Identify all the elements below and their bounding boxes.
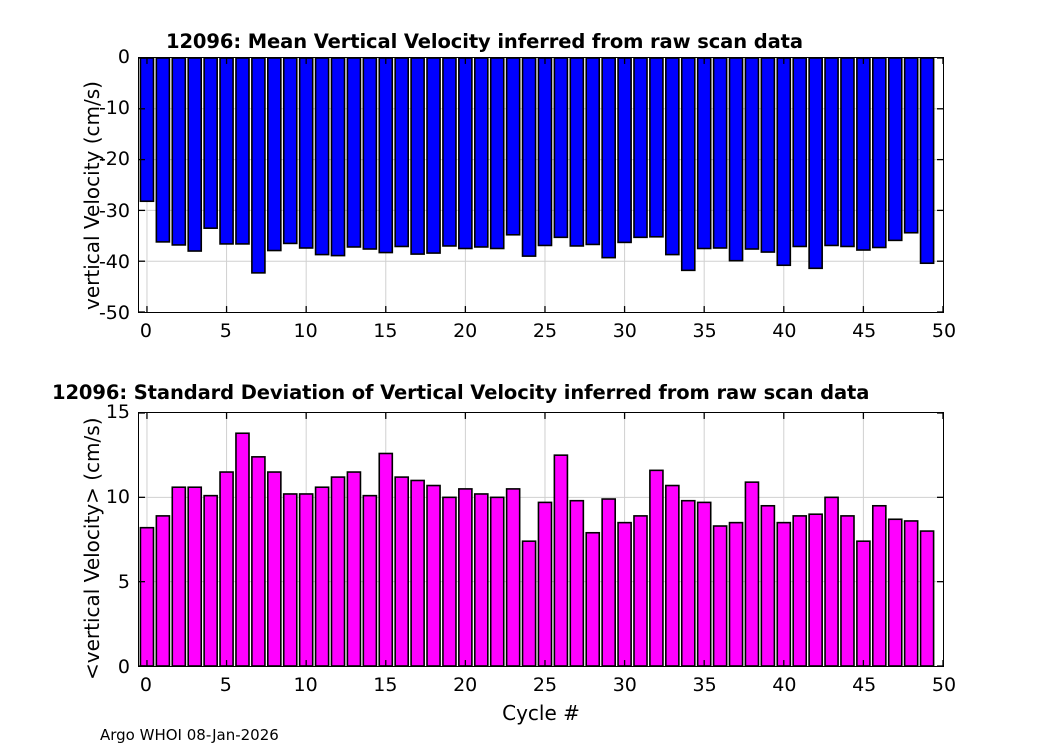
bar [140,58,153,201]
bar [172,487,185,666]
bar [841,58,854,246]
bar [873,506,886,666]
x-tick-label: 25 [533,320,557,342]
bar [825,497,838,666]
bar [379,453,392,666]
y-tick-label: 0 [66,656,130,678]
bar [284,58,297,243]
bar [745,58,758,249]
x-tick-label: 35 [693,320,717,342]
y-tick-label: 15 [66,401,130,423]
bar [411,480,424,666]
bar [586,533,599,666]
bar [554,455,567,666]
bar [236,58,249,244]
bar [730,58,743,261]
x-tick-label: 20 [453,674,477,696]
top-chart-plot-area [138,57,944,313]
bar [316,58,329,255]
bar [745,482,758,666]
bar [188,487,201,666]
bar [395,477,408,666]
bar [491,58,504,249]
bottom-chart-x-axis-label: Cycle # [502,701,580,725]
y-tick-label: -30 [66,200,130,222]
bar [921,531,934,666]
bar [331,58,344,256]
bar [682,58,695,270]
x-tick-label: 15 [373,320,397,342]
bar [507,489,520,666]
bar [841,516,854,666]
x-tick-label: 35 [693,674,717,696]
bar [140,528,153,666]
figure-footer: Argo WHOI 08-Jan-2026 [100,726,279,744]
y-tick-label: 0 [66,46,130,68]
bar [570,58,583,246]
bar [666,58,679,255]
bar [459,489,472,666]
bar [475,494,488,666]
bar [905,521,918,666]
top-chart-title: 12096: Mean Vertical Velocity inferred f… [166,30,803,53]
bar [220,58,233,244]
bar [443,497,456,666]
bar [252,457,265,666]
bottom-chart-title: 12096: Standard Deviation of Vertical Ve… [52,381,869,404]
bar [730,523,743,666]
bar [873,58,886,247]
bar [761,58,774,252]
x-tick-label: 10 [293,674,317,696]
bar [793,516,806,666]
bar [204,58,217,228]
bar [220,472,233,666]
bar [714,58,727,248]
bar [300,494,313,666]
bar [538,502,551,666]
bar [634,516,647,666]
bar [809,514,822,666]
bar [204,496,217,666]
bar [443,58,456,246]
x-tick-label: 0 [140,320,152,342]
x-tick-label: 50 [932,674,956,696]
bar [650,470,663,666]
y-tick-label: -20 [66,148,130,170]
bar [268,472,281,666]
bar [777,523,790,666]
bar [252,58,265,273]
x-tick-label: 30 [613,320,637,342]
bottom-chart-plot-area [138,412,944,667]
bottom-chart-y-axis-label: <vertical Velocity> (cm/s) [80,418,104,681]
x-tick-label: 0 [140,674,152,696]
bar [921,58,934,263]
bar [491,497,504,666]
bar [761,506,774,666]
bar [523,541,536,666]
bar [602,499,615,666]
bar [905,58,918,233]
bar [809,58,822,268]
bar [395,58,408,246]
bar [857,541,870,666]
bar [347,58,360,247]
bar [236,433,249,666]
bar [379,58,392,253]
bar [666,486,679,666]
bar [363,496,376,666]
bar [554,58,567,237]
x-tick-label: 5 [220,320,232,342]
x-tick-label: 50 [932,320,956,342]
bar [602,58,615,258]
y-tick-label: -40 [66,251,130,273]
bar [570,501,583,666]
bar [618,58,631,242]
bar [586,58,599,244]
bar [682,501,695,666]
bar [268,58,281,251]
bar [284,494,297,666]
bar [523,58,536,256]
bar [300,58,313,248]
bar [459,58,472,249]
bar [507,58,520,235]
x-tick-label: 45 [852,320,876,342]
x-tick-label: 30 [613,674,637,696]
x-tick-label: 10 [293,320,317,342]
x-tick-label: 15 [373,674,397,696]
bar [650,58,663,237]
y-tick-label: -10 [66,97,130,119]
bar [156,58,169,242]
bar [427,486,440,666]
x-tick-label: 20 [453,320,477,342]
bar [475,58,488,247]
bar [427,58,440,253]
bar [618,523,631,666]
x-tick-label: 5 [220,674,232,696]
bar [347,472,360,666]
y-tick-label: -50 [66,302,130,324]
bar [188,58,201,251]
bar [889,58,902,240]
figure-canvas: 12096: Mean Vertical Velocity inferred f… [0,0,1050,750]
y-tick-label: 5 [66,571,130,593]
x-tick-label: 45 [852,674,876,696]
bar [777,58,790,265]
bar [172,58,185,245]
bar [698,58,711,249]
bar [316,487,329,666]
y-tick-label: 10 [66,486,130,508]
bar [793,58,806,246]
bar [363,58,376,249]
bar [331,477,344,666]
x-tick-label: 40 [772,674,796,696]
bar [698,502,711,666]
bar [714,526,727,666]
bar [825,58,838,245]
bar [411,58,424,254]
bar [634,58,647,237]
x-tick-label: 25 [533,674,557,696]
bar [538,58,551,245]
bottom-chart-bars [139,413,943,666]
bar [857,58,870,250]
top-chart-bars [139,58,943,312]
bar [156,516,169,666]
bar [889,519,902,666]
x-tick-label: 40 [772,320,796,342]
